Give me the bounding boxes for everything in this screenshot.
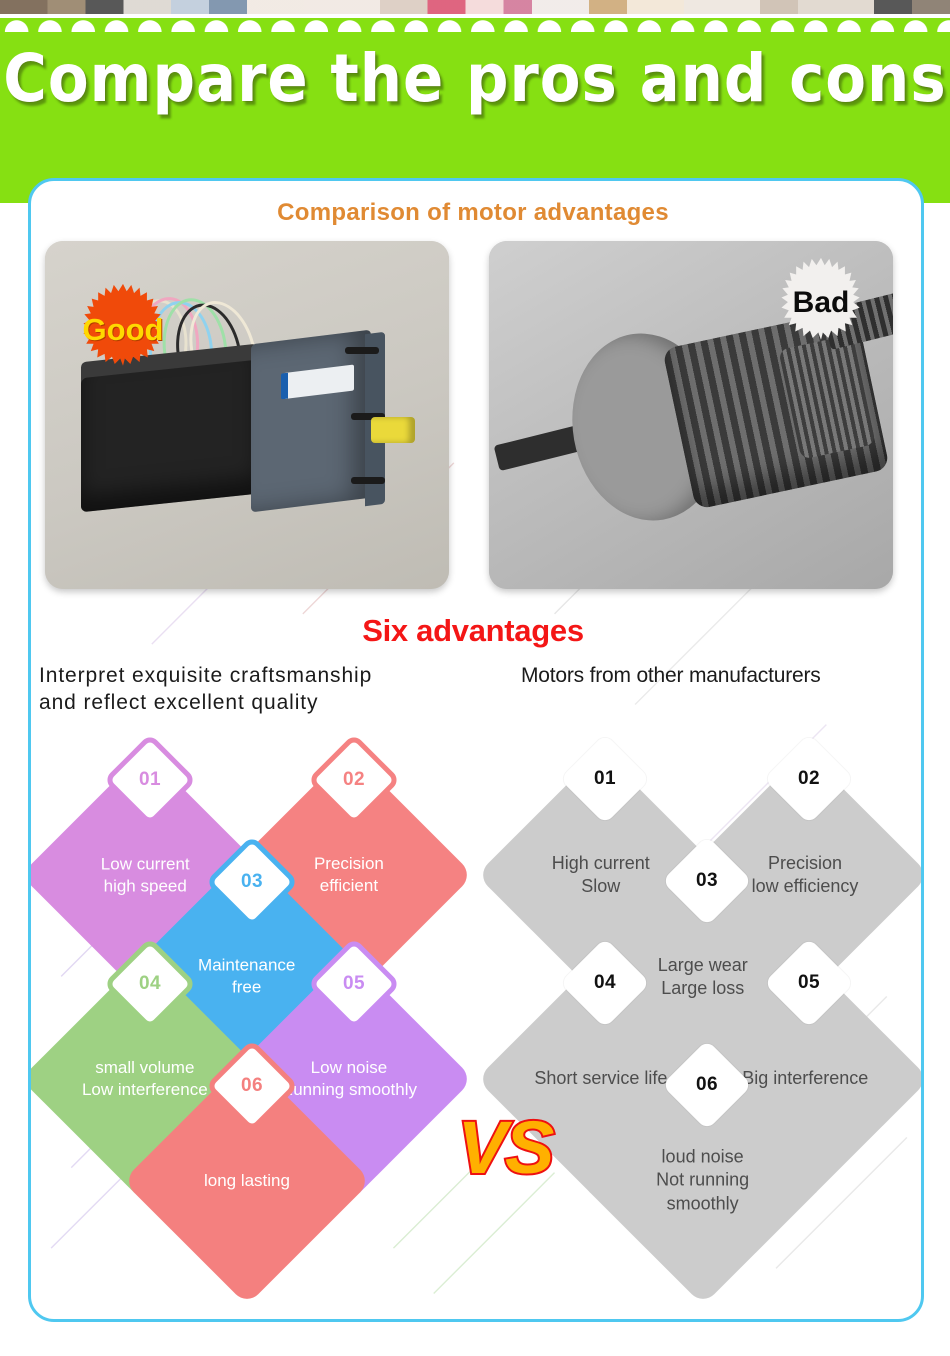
cons-diamond-06-label: loud noiseNot runningsmoothly [656,1146,749,1216]
pros-heading-line2: and reflect excellent quality [39,690,509,717]
cons-diamond-04-label: Short service life [534,1067,667,1090]
pros-diamond-04-label: small volumeLow interference [82,1057,208,1101]
pros-diamond-01-label: Low currenthigh speed [101,853,190,897]
cons-diamond-02-label: Precisionlow efficiency [752,852,859,899]
cons-diamond-grid: High currentSlow Precisionlow efficiency… [481,729,921,1299]
bad-motor-photo: Bad [489,241,893,589]
good-motor-photo: Good [45,241,449,589]
pros-diamond-03-label: Maintenancefree [198,955,295,999]
infographic-page: Compare the pros and cons Compa [0,0,950,1356]
pros-diamond-grid: Low currenthigh speed Precisionefficient… [28,729,465,1299]
page-title: Compare the pros and cons [0,46,950,112]
pros-column-heading: Interpret exquisite craftsmanship and re… [39,663,509,717]
cons-diamond-01-label: High currentSlow [552,852,650,899]
bad-badge-label: Bad [793,288,850,318]
good-badge-label: Good [83,314,164,345]
pros-diamond-06-label: long lasting [204,1170,290,1192]
bad-badge: Bad [781,263,861,343]
pros-diamond-05-label: Low noiseRunning smoothly [281,1057,417,1101]
good-badge: Good [83,289,163,369]
card-subtitle: Comparison of motor advantages [31,199,915,227]
content-card: Comparison of motor advantages [28,178,924,1322]
versus-label: VS [435,1111,575,1185]
scalloped-edge-decoration [0,6,950,34]
pros-diamond-02-label: Precisionefficient [314,853,384,897]
cons-diamond-05-label: Big interference [742,1067,868,1090]
cons-column-heading: Motors from other manufacturers [521,663,915,690]
six-advantages-heading: Six advantages [31,613,915,649]
pros-heading-line1: Interpret exquisite craftsmanship [39,663,509,690]
cons-diamond-03-label: Large wearLarge loss [658,954,748,1001]
